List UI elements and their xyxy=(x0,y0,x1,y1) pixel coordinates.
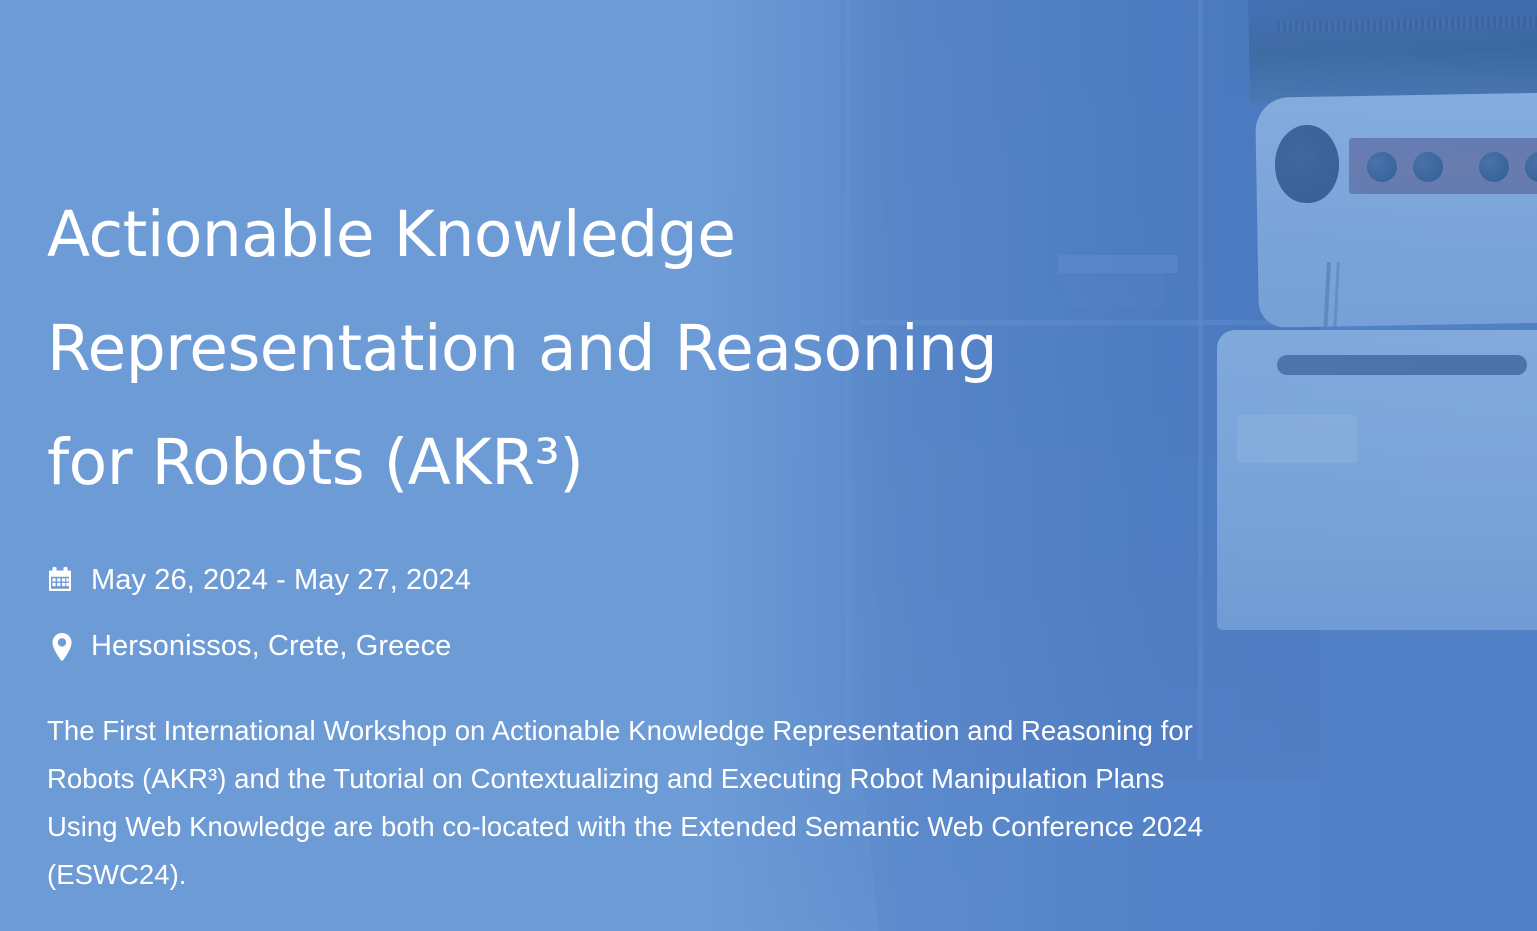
event-date-row: May 26, 2024 - May 27, 2024 xyxy=(47,564,1537,597)
map-pin-icon xyxy=(47,631,77,663)
hero-content: Actionable Knowledge Representation and … xyxy=(0,0,1537,931)
hero-banner: Actionable Knowledge Representation and … xyxy=(0,0,1537,931)
event-date-text: May 26, 2024 - May 27, 2024 xyxy=(91,564,471,597)
event-location-row: Hersonissos, Crete, Greece xyxy=(47,630,1537,663)
calendar-icon xyxy=(47,565,77,597)
event-meta: May 26, 2024 - May 27, 2024 Hersonissos,… xyxy=(47,564,1537,663)
event-description: The First International Workshop on Acti… xyxy=(47,707,1207,899)
event-location-text: Hersonissos, Crete, Greece xyxy=(91,630,451,663)
page-title: Actionable Knowledge Representation and … xyxy=(47,178,1277,520)
